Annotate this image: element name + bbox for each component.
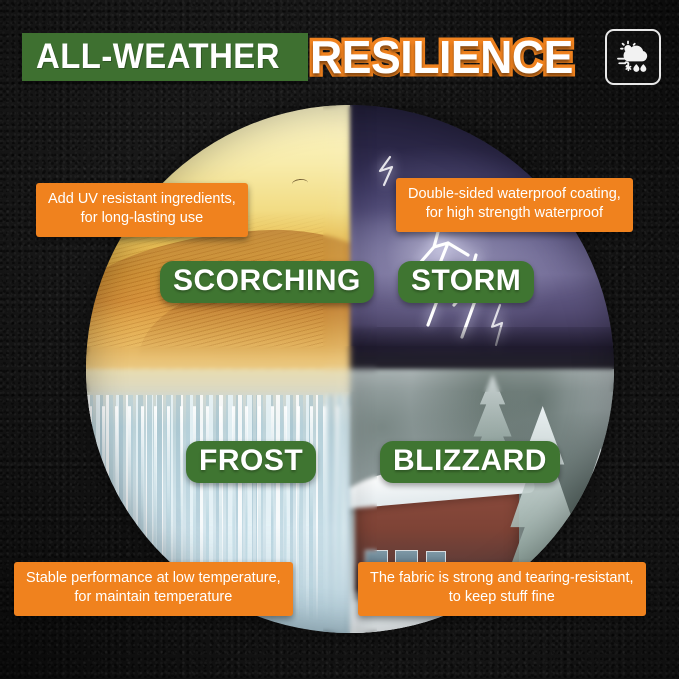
label-scorching: SCORCHING xyxy=(160,261,374,303)
quadrant-scorching-image xyxy=(86,105,350,369)
header: ALL-WEATHER RESILIENCE xyxy=(22,28,661,86)
caption-blizzard: The fabric is strong and tearing-resista… xyxy=(358,562,646,616)
label-blizzard-text: BLIZZARD xyxy=(393,446,547,476)
storm-tree-line xyxy=(350,327,614,369)
all-weather-resilience-poster: ALL-WEATHER RESILIENCE xyxy=(0,0,679,679)
caption-blizzard-line1: The fabric is strong and tearing-resista… xyxy=(370,569,634,588)
caption-frost-line2: for maintain temperature xyxy=(26,588,281,607)
label-blizzard: BLIZZARD xyxy=(380,441,560,483)
title-green-band: ALL-WEATHER xyxy=(22,33,308,81)
caption-frost: Stable performance at low temperature, f… xyxy=(14,562,293,616)
quadrant-storm-image xyxy=(350,105,614,369)
caption-scorching-line1: Add UV resistant ingredients, xyxy=(48,190,236,209)
mixed-weather-icon xyxy=(605,29,661,85)
caption-blizzard-line2: to keep stuff fine xyxy=(370,588,634,607)
label-storm: STORM xyxy=(398,261,534,303)
caption-scorching: Add UV resistant ingredients, for long-l… xyxy=(36,183,248,237)
storm-scene xyxy=(350,105,614,369)
caption-storm-line2: for high strength waterproof xyxy=(408,204,621,223)
title-part-all-weather: ALL-WEATHER xyxy=(36,37,280,77)
desert-scene xyxy=(86,105,350,369)
sand-ripples xyxy=(86,105,350,369)
label-storm-text: STORM xyxy=(411,266,521,296)
caption-scorching-line2: for long-lasting use xyxy=(48,209,236,228)
label-scorching-text: SCORCHING xyxy=(173,266,361,296)
caption-storm-line1: Double-sided waterproof coating, xyxy=(408,185,621,204)
title-part-resilience: RESILIENCE xyxy=(310,30,573,84)
label-frost-text: FROST xyxy=(199,446,303,476)
caption-storm: Double-sided waterproof coating, for hig… xyxy=(396,178,633,232)
label-frost: FROST xyxy=(186,441,316,483)
caption-frost-line1: Stable performance at low temperature, xyxy=(26,569,281,588)
